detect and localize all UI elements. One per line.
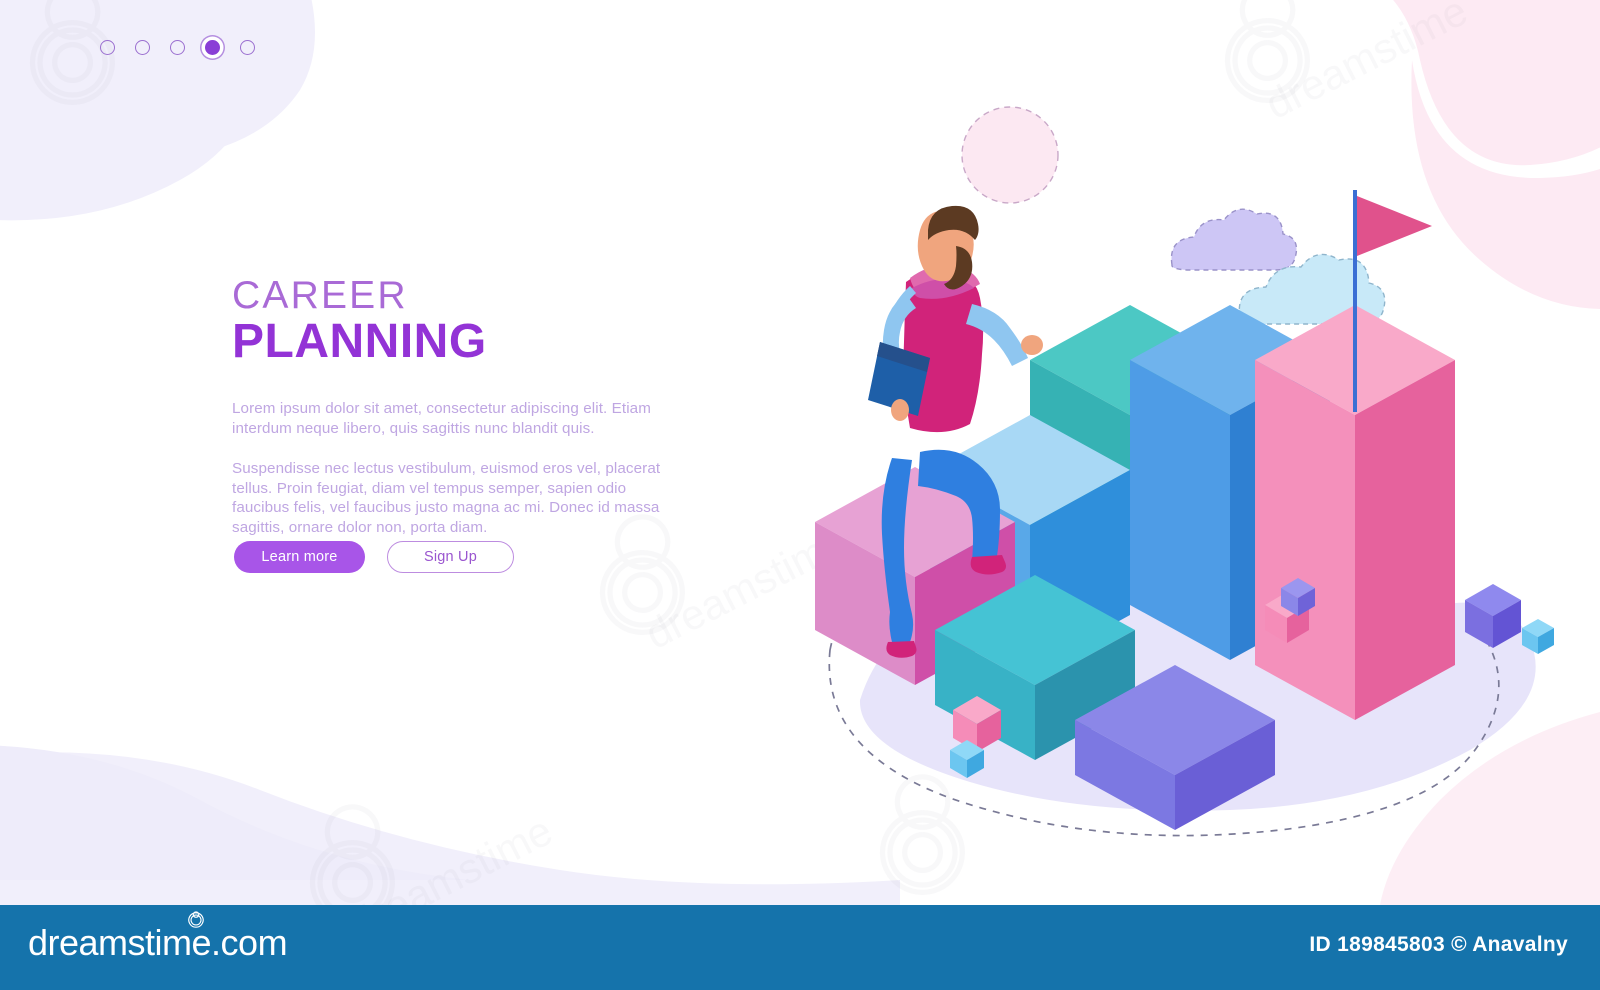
hero-title-line2: PLANNING [232, 317, 662, 367]
dreamstime-spiral-icon [187, 911, 205, 929]
career-growth-illustration [760, 60, 1600, 860]
carousel-dots[interactable] [100, 40, 255, 55]
carousel-dot-2[interactable] [135, 40, 150, 55]
blob-lavender-bottomleft-2 [0, 745, 470, 880]
page-root: dreamstime dreamstime dreamstime dreamst… [0, 0, 1600, 990]
sign-up-button[interactable]: Sign Up [387, 541, 514, 573]
blob-lavender-topleft [0, 0, 315, 162]
dreamstime-logo: dreamstime.com [28, 922, 287, 964]
hero-title-line1: CAREER [232, 276, 662, 315]
carousel-dot-3[interactable] [170, 40, 185, 55]
blob-lavender-topleft-2 [0, 0, 266, 220]
character-hand-right [1021, 335, 1043, 355]
character-hand-left [891, 399, 909, 421]
hero-paragraph-2: Suspendisse nec lectus vestibulum, euism… [232, 459, 662, 537]
hero-paragraph-1: Lorem ipsum dolor sit amet, consectetur … [232, 399, 662, 438]
hero-cta-group: Learn more Sign Up [234, 541, 514, 573]
character-front-shoe [971, 555, 1006, 575]
learn-more-button[interactable]: Learn more [234, 541, 365, 573]
carousel-dot-1[interactable] [100, 40, 115, 55]
image-credit: ID 189845803 © Anavalny [1309, 933, 1568, 957]
dashed-circle-decor [962, 107, 1058, 203]
watermark-spiral-icon [313, 807, 393, 905]
dreamstime-footer: dreamstime.com ID 189845803 © Anavalny [0, 905, 1600, 990]
carousel-dot-5[interactable] [240, 40, 255, 55]
cloud-purple-icon [1171, 209, 1296, 270]
hero-copy: CAREER PLANNING Lorem ipsum dolor sit am… [232, 276, 662, 537]
carousel-dot-4-active[interactable] [205, 40, 220, 55]
character-back-shoe [886, 641, 916, 658]
watermark-text: dreamstime [343, 807, 560, 905]
